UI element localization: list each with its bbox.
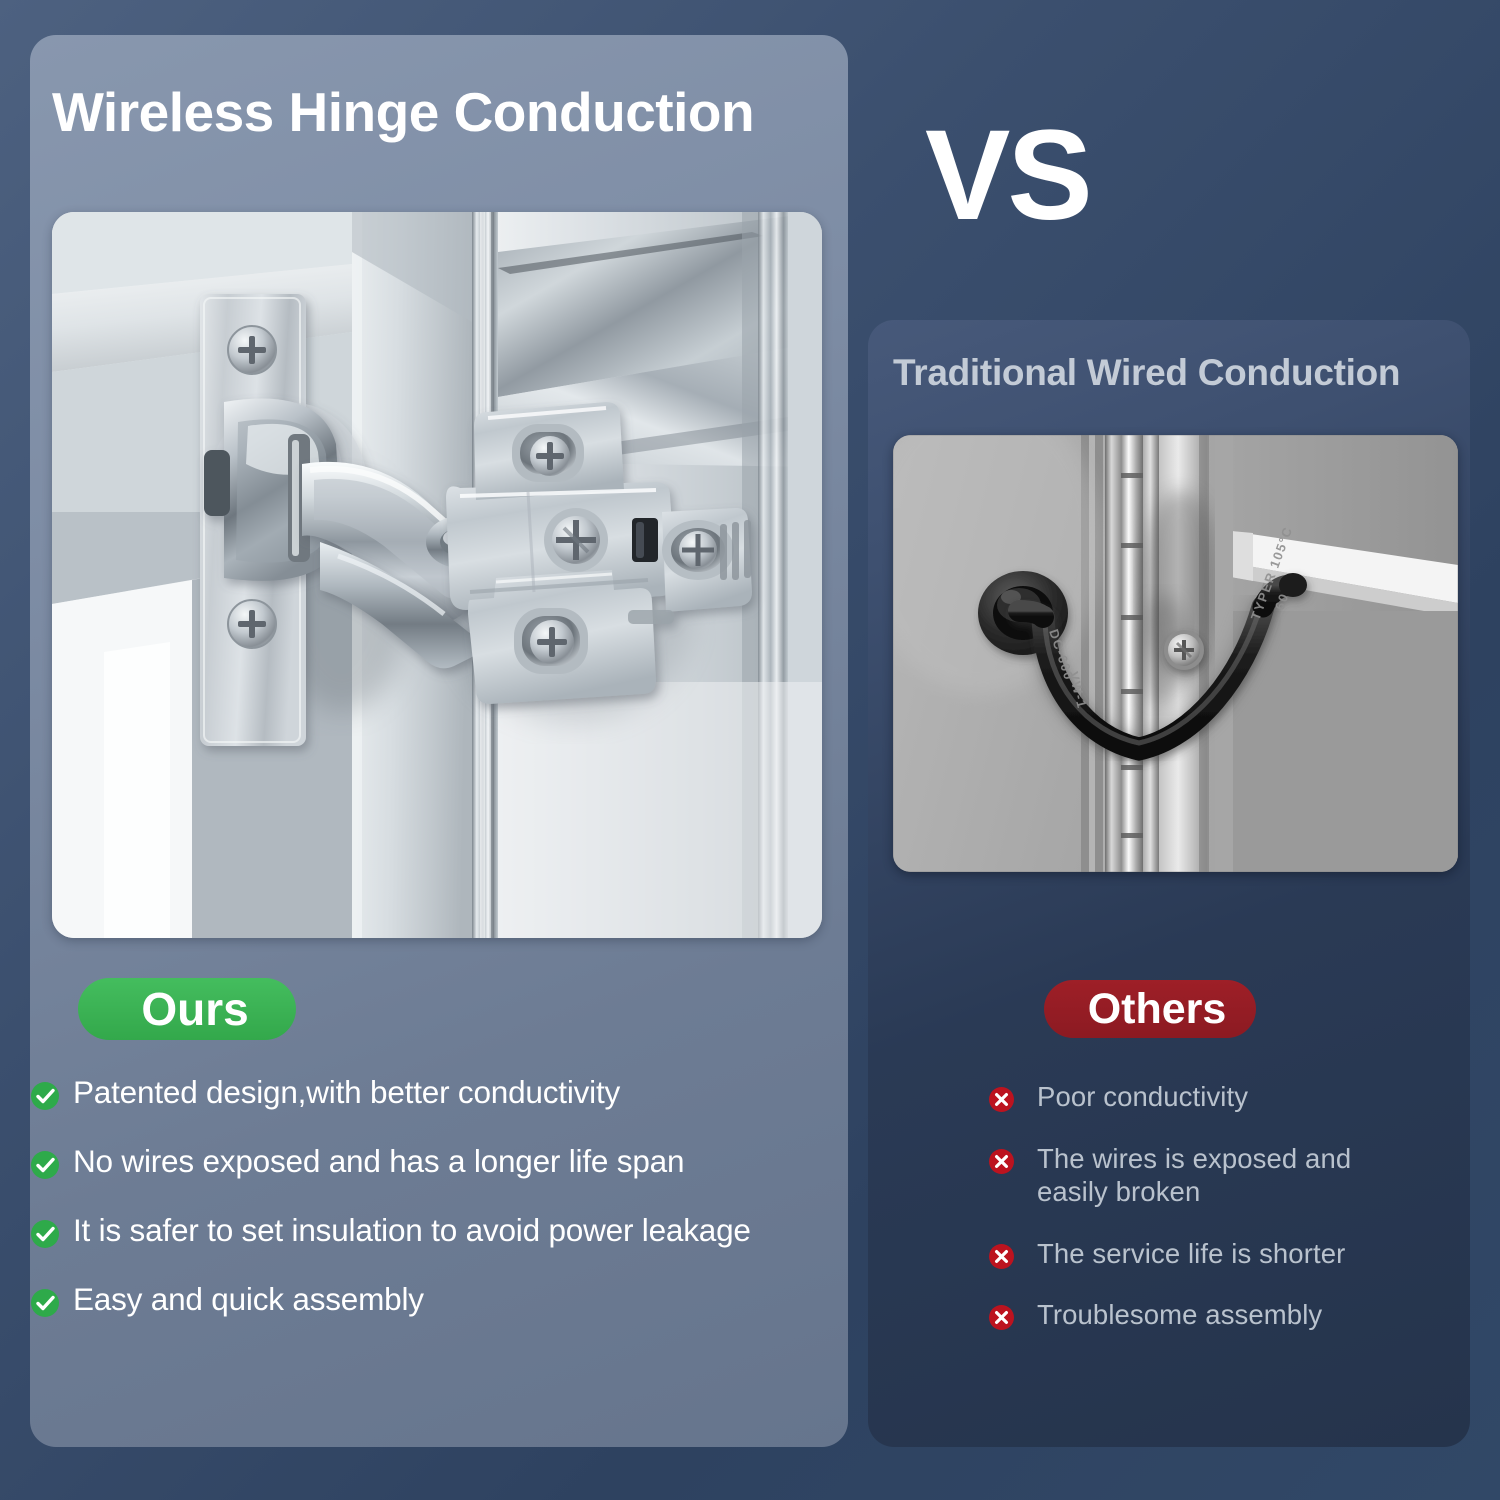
list-item: Poor conductivity — [988, 1080, 1458, 1114]
list-item-label: Poor conductivity — [1037, 1080, 1248, 1114]
list-item-label: Patented design,with better conductivity — [73, 1075, 620, 1110]
badge-ours: Ours — [78, 978, 296, 1040]
list-item: The wires is exposed and easily broken — [988, 1142, 1458, 1209]
list-item-label: Easy and quick assembly — [73, 1282, 424, 1317]
list-item: Troublesome assembly — [988, 1298, 1458, 1332]
feature-list-ours: Patented design,with better conductivity… — [30, 1075, 860, 1351]
check-circle-icon — [30, 1288, 60, 1318]
list-item-label: Troublesome assembly — [1037, 1298, 1322, 1332]
wireless-hinge-photo — [52, 212, 822, 938]
list-item-label: The wires is exposed and easily broken — [1037, 1142, 1351, 1209]
badge-others: Others — [1044, 980, 1256, 1038]
list-item-label: The service life is shorter — [1037, 1237, 1345, 1271]
check-circle-icon — [30, 1081, 60, 1111]
x-circle-icon — [988, 1304, 1015, 1331]
list-item: No wires exposed and has a longer life s… — [30, 1144, 860, 1180]
check-circle-icon — [30, 1219, 60, 1249]
x-circle-icon — [988, 1086, 1015, 1113]
feature-list-others: Poor conductivity The wires is exposed a… — [988, 1080, 1458, 1360]
vs-label: VS — [925, 112, 1090, 240]
list-item: Patented design,with better conductivity — [30, 1075, 860, 1111]
x-circle-icon — [988, 1243, 1015, 1270]
list-item: It is safer to set insulation to avoid p… — [30, 1213, 860, 1249]
list-item-label: It is safer to set insulation to avoid p… — [73, 1213, 751, 1248]
list-item: The service life is shorter — [988, 1237, 1458, 1271]
x-circle-icon — [988, 1148, 1015, 1175]
right-panel-title: Traditional Wired Conduction — [893, 352, 1400, 394]
traditional-wired-hinge-photo: DC-600 VW-1 TYPER 105°C 60 — [893, 435, 1458, 872]
list-item-label: No wires exposed and has a longer life s… — [73, 1144, 684, 1179]
page-title: Wireless Hinge Conduction — [52, 80, 754, 144]
check-circle-icon — [30, 1150, 60, 1180]
list-item: Easy and quick assembly — [30, 1282, 860, 1318]
